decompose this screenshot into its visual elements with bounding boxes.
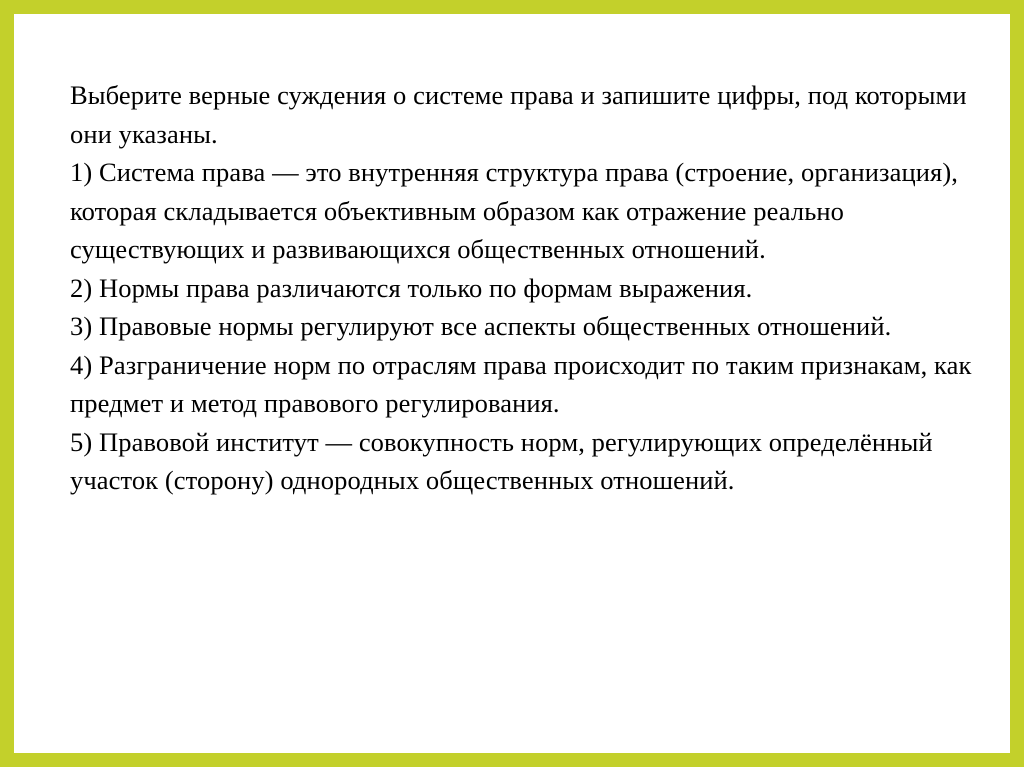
- statement-2: 2) Нормы права различаются только по фор…: [70, 269, 978, 308]
- task-prompt: Выберите верные суждения о системе права…: [70, 76, 978, 153]
- slide-inner: Выберите верные суждения о системе права…: [14, 14, 1010, 753]
- statement-3: 3) Правовые нормы регулируют все аспекты…: [70, 307, 978, 346]
- statement-5: 5) Правовой институт — совокупность норм…: [70, 423, 978, 500]
- slide: Выберите верные суждения о системе права…: [0, 0, 1024, 767]
- statement-1: 1) Система права — это внутренняя структ…: [70, 153, 978, 269]
- slide-content: Выберите верные суждения о системе права…: [70, 76, 978, 500]
- statement-4: 4) Разграничение норм по отраслям права …: [70, 346, 978, 423]
